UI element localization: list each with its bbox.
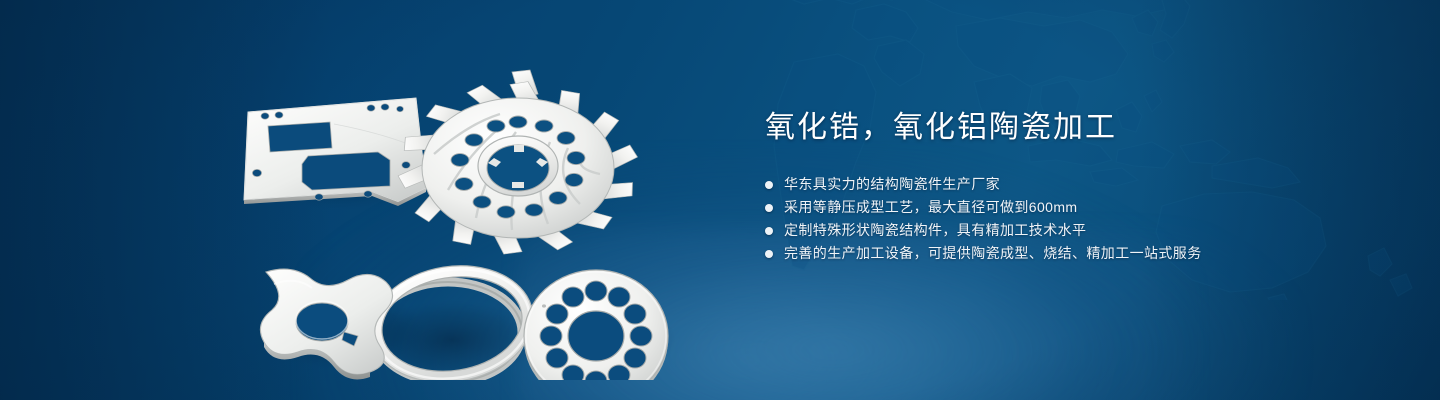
list-item: 华东具实力的结构陶瓷件生产厂家 xyxy=(765,173,1385,196)
list-item-label: 完善的生产加工设备，可提供陶瓷成型、烧结、精加工一站式服务 xyxy=(784,242,1202,265)
bullet-dot-icon xyxy=(765,227,773,235)
list-item-label: 华东具实力的结构陶瓷件生产厂家 xyxy=(784,173,1000,196)
list-item-label: 采用等静压成型工艺，最大直径可做到600mm xyxy=(784,196,1077,219)
ceramic-impeller-wheel xyxy=(396,70,641,255)
hero-banner: 氧化锆，氧化铝陶瓷加工 华东具实力的结构陶瓷件生产厂家 采用等静压成型工艺，最大… xyxy=(0,0,1440,400)
bullet-dot-icon xyxy=(765,250,773,258)
page-title: 氧化锆，氧化铝陶瓷加工 xyxy=(765,108,1385,148)
bullet-dot-icon xyxy=(765,181,773,189)
list-item: 完善的生产加工设备，可提供陶瓷成型、烧结、精加工一站式服务 xyxy=(765,242,1385,265)
list-item: 采用等静压成型工艺，最大直径可做到600mm xyxy=(765,196,1385,219)
product-image-cluster xyxy=(230,40,700,380)
banner-copy: 氧化锆，氧化铝陶瓷加工 华东具实力的结构陶瓷件生产厂家 采用等静压成型工艺，最大… xyxy=(765,108,1385,265)
feature-list: 华东具实力的结构陶瓷件生产厂家 采用等静压成型工艺，最大直径可做到600mm 定… xyxy=(765,173,1385,265)
list-item: 定制特殊形状陶瓷结构件，具有精加工技术水平 xyxy=(765,219,1385,242)
list-item-label: 定制特殊形状陶瓷结构件，具有精加工技术水平 xyxy=(784,219,1086,242)
ceramic-valve-plate xyxy=(524,270,668,380)
ceramic-flat-plate xyxy=(244,98,426,206)
bullet-dot-icon xyxy=(765,204,773,212)
